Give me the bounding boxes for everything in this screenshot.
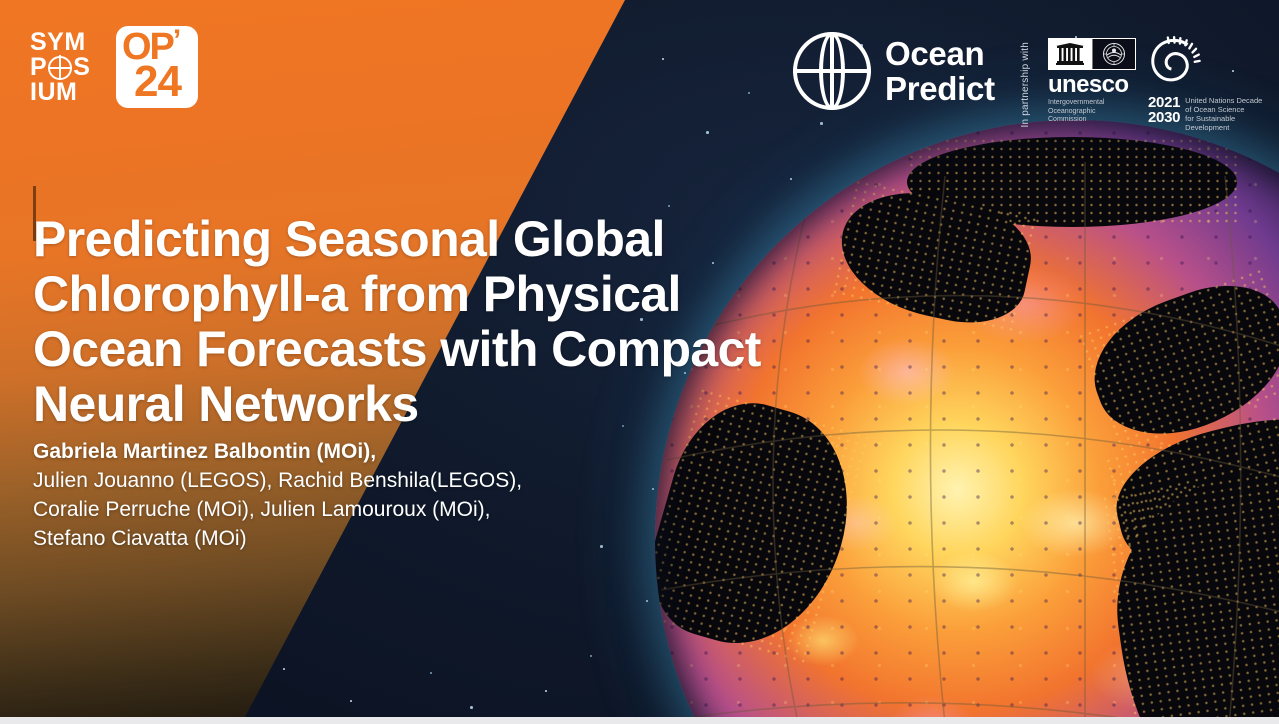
title-line-2: Chlorophyll-a from Physical: [33, 267, 793, 322]
author-line-4: Stefano Ciavatta (MOi): [33, 524, 653, 553]
symposium-line-2b: S: [73, 55, 90, 80]
page-title: Predicting Seasonal Global Chlorophyll-a…: [33, 212, 793, 432]
op24-badge-bottom: 24: [134, 60, 181, 104]
unesco-wordmark: unesco: [1048, 72, 1136, 98]
op24-apostrophe: ’: [173, 26, 179, 57]
ocean-decade-text-line-1: United Nations Decade: [1185, 96, 1274, 105]
symposium-line-3: IUM: [30, 80, 77, 105]
op24-badge: OP’ 24: [116, 26, 198, 108]
unesco-subtitle-line-1: Intergovernmental: [1048, 99, 1136, 108]
title-line-3: Ocean Forecasts with Compact: [33, 322, 793, 377]
ocean-decade-caption: 2021 2030 United Nations Decade of Ocean…: [1148, 95, 1274, 132]
author-line-2: Julien Jouanno (LEGOS), Rachid Benshila(…: [33, 466, 653, 495]
ocean-decade-text: United Nations Decade of Ocean Science f…: [1185, 95, 1274, 132]
title-slide: SYM PS IUM OP’ 24 Ocean Predict In partn…: [0, 0, 1279, 724]
unesco-subtitle: Intergovernmental Oceanographic Commissi…: [1048, 99, 1136, 125]
title-line-4: Neural Networks: [33, 377, 793, 432]
ocean-decade-year-end: 2030: [1148, 110, 1180, 125]
symposium-line-2a: P: [30, 55, 47, 80]
ocean-predict-line-1: Ocean: [885, 36, 995, 71]
ocean-predict-wordmark: Ocean Predict: [885, 36, 995, 106]
unesco-logo[interactable]: unesco Intergovernmental Oceanographic C…: [1048, 38, 1136, 125]
ocean-decade-text-line-3: for Sustainable Development: [1185, 114, 1274, 132]
globe-grid-icon: [793, 32, 871, 110]
ocean-decade-text-line-2: of Ocean Science: [1185, 105, 1274, 114]
bottom-strip: [0, 717, 1279, 724]
partnership-label: In partnership with: [1020, 36, 1031, 128]
unesco-subtitle-line-2: Oceanographic: [1048, 108, 1136, 117]
greek-temple-icon: [1049, 39, 1092, 69]
ocean-predict-logo[interactable]: Ocean Predict: [793, 32, 995, 110]
partnership-text: In partnership with: [1020, 42, 1031, 128]
unesco-subtitle-line-3: Commission: [1048, 116, 1136, 125]
symposium-logo[interactable]: SYM PS IUM OP’ 24: [30, 26, 198, 108]
symposium-wordmark: SYM PS IUM: [30, 30, 90, 105]
ocean-decade-years: 2021 2030: [1148, 95, 1180, 125]
ocean-decade-year-start: 2021: [1148, 95, 1180, 110]
ocean-predict-line-2: Predict: [885, 71, 995, 106]
author-list: Gabriela Martinez Balbontin (MOi), Julie…: [33, 437, 653, 553]
ocean-decade-spiral-icon: [1148, 34, 1202, 86]
title-line-1: Predicting Seasonal Global: [33, 212, 793, 267]
unesco-emblem-pair: [1048, 38, 1136, 70]
globe-o-icon: [48, 56, 72, 80]
author-line-3: Coralie Perruche (MOi), Julien Lamouroux…: [33, 495, 653, 524]
ioc-seal-icon: [1092, 39, 1136, 69]
ocean-decade-logo[interactable]: 2021 2030 United Nations Decade of Ocean…: [1148, 34, 1274, 132]
author-line-1: Gabriela Martinez Balbontin (MOi),: [33, 437, 653, 466]
symposium-line-1: SYM: [30, 30, 86, 55]
